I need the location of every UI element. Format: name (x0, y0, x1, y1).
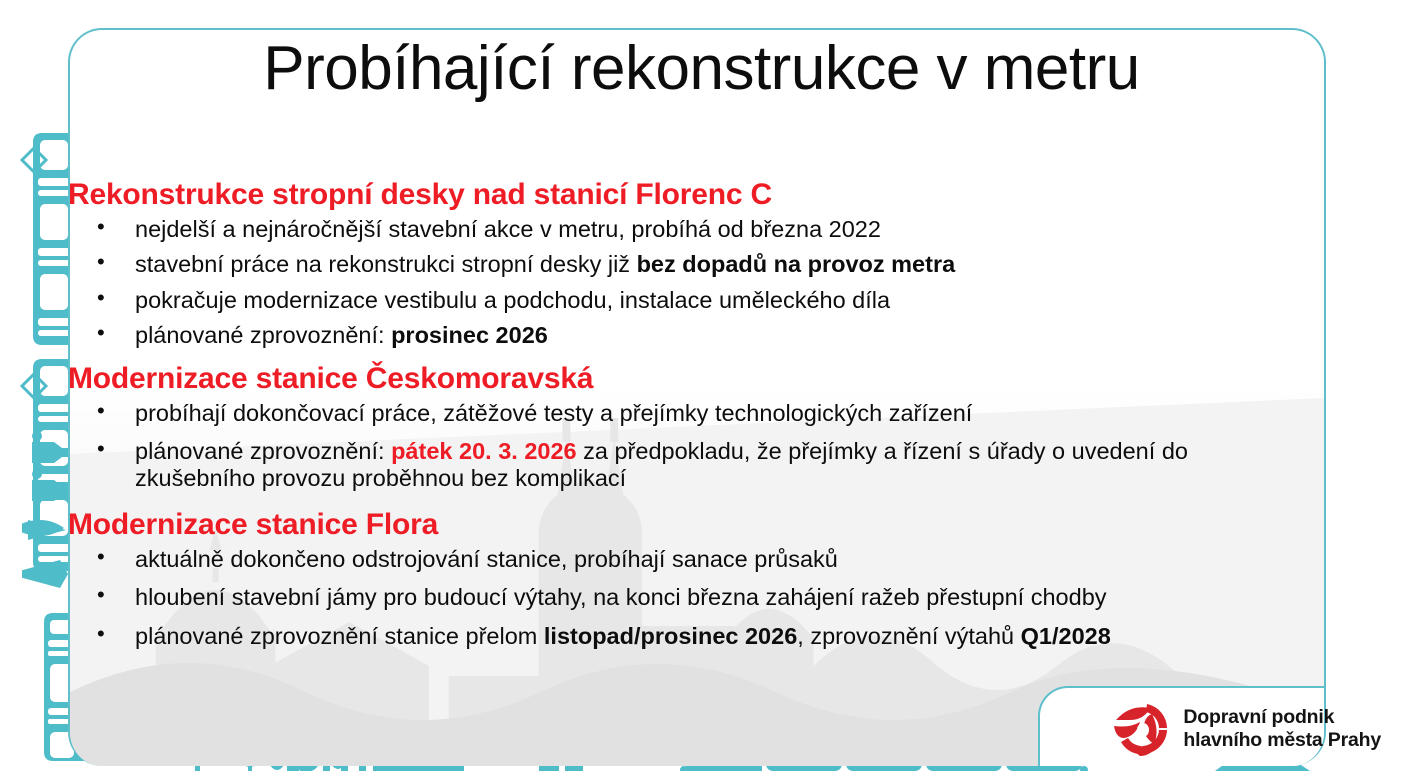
list-item: stavební práce na rekonstrukci stropní d… (68, 251, 1228, 278)
section-bullet-list: probíhají dokončovací práce, zátěžové te… (68, 400, 1228, 492)
bullet-text: plánované zprovoznění: (135, 322, 391, 348)
list-item: hloubení stavební jámy pro budoucí výtah… (68, 584, 1228, 611)
bullet-text-highlight: pátek 20. 3. 2026 (391, 438, 577, 464)
section-ceskomoravska: Modernizace stanice Českomoravská probíh… (68, 362, 1228, 503)
bullet-text: nejdelší a nejnáročnější stavební akce v… (135, 216, 881, 242)
list-item: aktuálně dokončeno odstrojování stanice,… (68, 546, 1228, 573)
section-heading: Rekonstrukce stropní desky nad stanicí F… (68, 178, 1228, 212)
logo-wordmark: Dopravní podnik hlavního města Prahy (1183, 706, 1381, 752)
dpp-logo-mark-icon (1110, 700, 1172, 758)
bullet-text: aktuálně dokončeno odstrojování stanice,… (135, 546, 838, 572)
bullet-text: plánované zprovoznění stanice přelom (135, 623, 544, 649)
dpp-logo: Dopravní podnik hlavního města Prahy (1110, 700, 1381, 758)
logo-line-2: hlavního města Prahy (1183, 729, 1381, 752)
list-item: probíhají dokončovací práce, zátěžové te… (68, 400, 1228, 427)
bullet-text: pokračuje modernizace vestibulu a podcho… (135, 287, 890, 313)
bullet-text-bold: listopad/prosinec 2026 (544, 623, 797, 649)
bullet-text-bold: Q1/2028 (1021, 623, 1111, 649)
bullet-text: , zprovoznění výtahů (797, 623, 1020, 649)
bullet-text: hloubení stavební jámy pro budoucí výtah… (135, 584, 1107, 610)
list-item: nejdelší a nejnáročnější stavební akce v… (68, 216, 1228, 243)
slide-canvas: Probíhající rekonstrukce v metru Rekonst… (0, 0, 1403, 771)
list-item: plánované zprovoznění: pátek 20. 3. 2026… (68, 438, 1228, 491)
bullet-text: probíhají dokončovací práce, zátěžové te… (135, 400, 972, 426)
list-item: plánované zprovoznění: prosinec 2026 (68, 322, 1228, 349)
section-heading: Modernizace stanice Flora (68, 508, 1228, 542)
section-heading: Modernizace stanice Českomoravská (68, 362, 1228, 396)
section-bullet-list: aktuálně dokončeno odstrojování stanice,… (68, 546, 1228, 650)
logo-line-1: Dopravní podnik (1183, 706, 1381, 729)
section-florenc: Rekonstrukce stropní desky nad stanicí F… (68, 178, 1228, 358)
list-item: pokračuje modernizace vestibulu a podcho… (68, 287, 1228, 314)
bullet-text: plánované zprovoznění: (135, 438, 391, 464)
bullet-text-bold: bez dopadů na provoz metra (637, 251, 956, 277)
page-title: Probíhající rekonstrukce v metru (0, 36, 1403, 101)
bullet-text-bold: prosinec 2026 (391, 322, 548, 348)
list-item: plánované zprovoznění stanice přelom lis… (68, 623, 1228, 650)
bullet-text: stavební práce na rekonstrukci stropní d… (135, 251, 637, 277)
slide-content: Probíhající rekonstrukce v metru Rekonst… (0, 0, 1403, 771)
section-flora: Modernizace stanice Flora aktuálně dokon… (68, 508, 1228, 661)
section-bullet-list: nejdelší a nejnáročnější stavební akce v… (68, 216, 1228, 349)
